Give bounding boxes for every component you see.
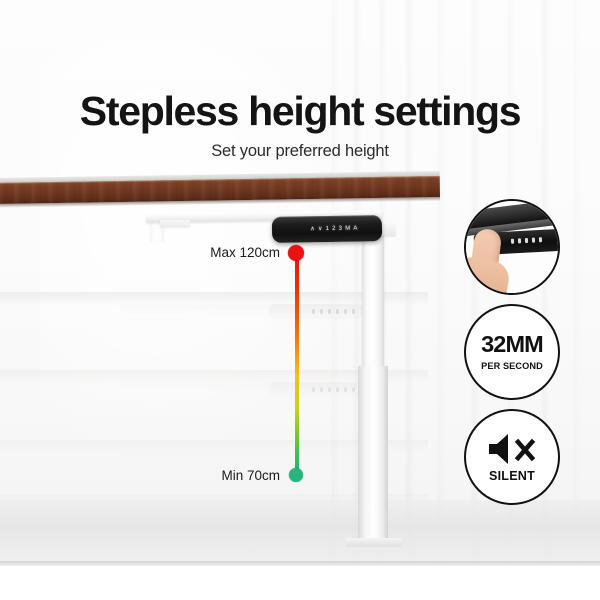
badge-speed-value: 32MM bbox=[481, 333, 543, 357]
panel-key-up[interactable]: ∧ bbox=[310, 226, 315, 232]
desk-foot-right bbox=[346, 538, 402, 547]
panel-key-preset-1[interactable]: 1 bbox=[326, 226, 330, 232]
photo-key-3 bbox=[525, 238, 528, 243]
background-floor bbox=[0, 500, 600, 566]
desk-frame-rail-cross bbox=[160, 220, 190, 227]
height-range-gradient-line bbox=[295, 252, 299, 474]
badge-touch-control bbox=[464, 199, 560, 295]
max-height-label: Max 120cm bbox=[150, 245, 280, 260]
desk-top bbox=[0, 171, 442, 218]
panel-key-memory[interactable]: M bbox=[345, 226, 350, 232]
desk-leg-right-outer bbox=[362, 236, 384, 372]
badge-speed-unit: PER SECOND bbox=[481, 361, 543, 371]
min-height-label: Min 70cm bbox=[155, 468, 280, 483]
badge-silent: SILENT bbox=[464, 409, 560, 505]
page-title: Stepless height settings bbox=[0, 88, 600, 135]
background-floor-line bbox=[0, 561, 600, 566]
badge-speed: 32MM PER SECOND bbox=[464, 304, 560, 400]
min-height-marker-dot bbox=[289, 468, 303, 482]
panel-key-down[interactable]: ∨ bbox=[318, 226, 323, 232]
panel-key-preset-2[interactable]: 2 bbox=[332, 226, 336, 232]
touch-control-photo bbox=[466, 201, 558, 293]
desk-leg-right-inner bbox=[358, 366, 388, 544]
max-height-marker-dot bbox=[288, 245, 304, 261]
height-control-panel[interactable]: ∧ ∨ 1 2 3 M A bbox=[272, 215, 382, 243]
panel-key-preset-3[interactable]: 3 bbox=[339, 226, 343, 232]
product-feature-graphic: ∧ ∨ 1 2 3 M A Stepless height settings S… bbox=[0, 0, 600, 600]
badge-silent-label: SILENT bbox=[489, 469, 535, 483]
panel-key-auto[interactable]: A bbox=[353, 226, 357, 232]
mute-speaker-icon bbox=[486, 432, 538, 466]
photo-key-a bbox=[539, 237, 542, 242]
photo-hand bbox=[464, 254, 512, 295]
photo-key-m bbox=[532, 238, 535, 243]
photo-key-1 bbox=[511, 239, 514, 244]
photo-key-2 bbox=[518, 238, 521, 243]
page-subtitle: Set your preferred height bbox=[0, 142, 600, 161]
